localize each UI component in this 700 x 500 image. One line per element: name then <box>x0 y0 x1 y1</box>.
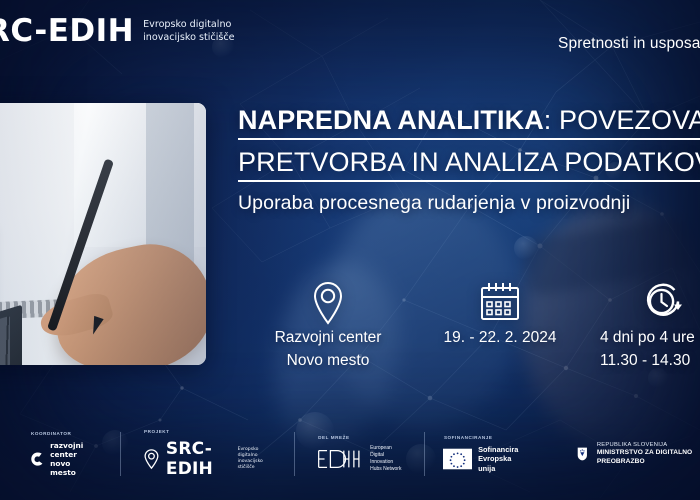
src-edih-pin-logo <box>143 444 160 474</box>
header-logo-subtitle-line2: inovacijsko stičišče <box>143 32 234 44</box>
bokeh-2 <box>514 236 538 260</box>
slovenia-coat-of-arms-icon <box>577 444 588 464</box>
footer-logo-bar: KOORDINATOR razvojni center novo mesto P… <box>0 408 700 500</box>
footer-koordinator-line2: novo mesto <box>50 459 94 478</box>
title-bold-part: NAPREDNA ANALITIKA <box>238 105 544 135</box>
info-time-line2: 11.30 - 14.30 <box>600 349 700 372</box>
footer-row-del-mreze: European Digital Innovation Hubs Network <box>317 445 402 474</box>
title-line-2-text: PRETVORBA IN ANALIZA PODATKOV <box>238 147 700 182</box>
footer-sofinanciranje-line2: Evropska unija <box>478 454 523 473</box>
page-title: NAPREDNA ANALITIKA: POVEZOVANJE, PRETVOR… <box>238 99 700 183</box>
footer-caption-del-mreze: DEL MREŽE <box>317 435 402 440</box>
footer-group-sofinanciranje: SOFINANCIRANJE Sofinancira Evropska <box>443 426 523 482</box>
footer-text-projekt: Evropsko digitalno inovacijsko stičišče <box>238 447 269 472</box>
header-logo-subtitle: Evropsko digitalno inovacijsko stičišče <box>143 19 234 43</box>
footer-group-koordinator: KOORDINATOR razvojni center novo mesto <box>30 426 94 482</box>
footer-divider-3 <box>424 432 425 476</box>
info-location-line1: Razvojni center <box>240 326 416 349</box>
title-line-1: NAPREDNA ANALITIKA: POVEZOVANJE, <box>238 99 700 141</box>
footer-group-projekt: PROJEKT SRC-EDIH Evropsko digitalno inov… <box>143 426 268 482</box>
footer-divider-1 <box>120 432 121 476</box>
title-line-2: PRETVORBA IN ANALIZA PODATKOV <box>238 141 700 183</box>
footer-divider-2 <box>294 432 295 476</box>
footer-caption-sofinanciranje: SOFINANCIRANJE <box>443 435 523 440</box>
footer-caption-projekt: PROJEKT <box>143 429 268 434</box>
footer-ministrstvo-line1: REPUBLIKA SLOVENIJA <box>597 442 700 449</box>
footer-projekt-line1: Evropsko digitalno <box>238 447 269 459</box>
info-location-line2: Novo mesto <box>240 349 416 372</box>
calendar-icon <box>420 278 580 326</box>
footer-row-sofinanciranje: Sofinancira Evropska unija <box>443 445 523 474</box>
clock-history-icon <box>600 278 700 326</box>
header-logo-subtitle-line1: Evropsko digitalno <box>143 19 234 31</box>
header-logo-mark: RC-EDIH <box>0 16 134 47</box>
footer-sofinanciranje-line1: Sofinancira <box>478 445 523 455</box>
footer-del-mreze-line2: Digital Innovation <box>370 452 402 467</box>
info-time-line1: 4 dni po 4 ure <box>600 326 700 349</box>
info-date-line1: 19. - 22. 2. 2024 <box>420 326 580 349</box>
footer-group-ministrstvo: REPUBLIKA SLOVENIJA MINISTRSTVO ZA DIGIT… <box>577 426 700 482</box>
info-time: 4 dni po 4 ure 11.30 - 14.30 <box>600 278 700 372</box>
rc-novo-mesto-logo <box>30 448 44 470</box>
info-location: Razvojni center Novo mesto <box>240 278 416 372</box>
footer-del-mreze-line1: European <box>370 445 402 452</box>
footer-row-ministrstvo: REPUBLIKA SLOVENIJA MINISTRSTVO ZA DIGIT… <box>577 442 700 466</box>
footer-row-projekt: SRC-EDIH Evropsko digitalno inovacijsko … <box>143 439 268 479</box>
footer-del-mreze-line3: Hubs Network <box>370 466 402 473</box>
photo-shade-overlay <box>0 103 206 365</box>
footer-brand-src-edih: SRC-EDIH <box>166 439 232 479</box>
footer-row-koordinator: razvojni center novo mesto <box>30 441 94 478</box>
footer-text-koordinator: razvojni center novo mesto <box>50 441 94 478</box>
footer-projekt-line2: inovacijsko stičišče <box>238 459 269 471</box>
title-colon: : <box>544 105 559 135</box>
map-pin-icon <box>240 278 416 326</box>
edih-network-logo <box>317 446 364 472</box>
footer-text-del-mreze: European Digital Innovation Hubs Network <box>370 445 402 474</box>
footer-ministrstvo-line2: MINISTRSTVO ZA DIGITALNO PREOBRAZBO <box>597 449 700 465</box>
page-subtitle: Uporaba procesnega rudarjenja v proizvod… <box>238 192 630 215</box>
footer-text-ministrstvo: REPUBLIKA SLOVENIJA MINISTRSTVO ZA DIGIT… <box>594 442 700 466</box>
footer-text-sofinanciranje: Sofinancira Evropska unija <box>478 445 523 474</box>
header-logo: RC-EDIH Evropsko digitalno inovacijsko s… <box>0 16 235 47</box>
footer-caption-koordinator: KOORDINATOR <box>30 431 94 436</box>
footer-group-del-mreze: DEL MREŽE European Digital Innovation Hu… <box>317 426 402 482</box>
info-date: 19. - 22. 2. 2024 <box>420 278 580 349</box>
footer-koordinator-line1: razvojni center <box>50 441 94 460</box>
header-category-label: Spretnosti in usposabljanja <box>558 35 700 53</box>
desk-writing-photo <box>0 103 206 365</box>
eu-flag-icon <box>443 447 472 471</box>
title-rest-part: POVEZOVANJE, <box>559 105 700 135</box>
event-poster: RC-EDIH Evropsko digitalno inovacijsko s… <box>0 0 700 500</box>
